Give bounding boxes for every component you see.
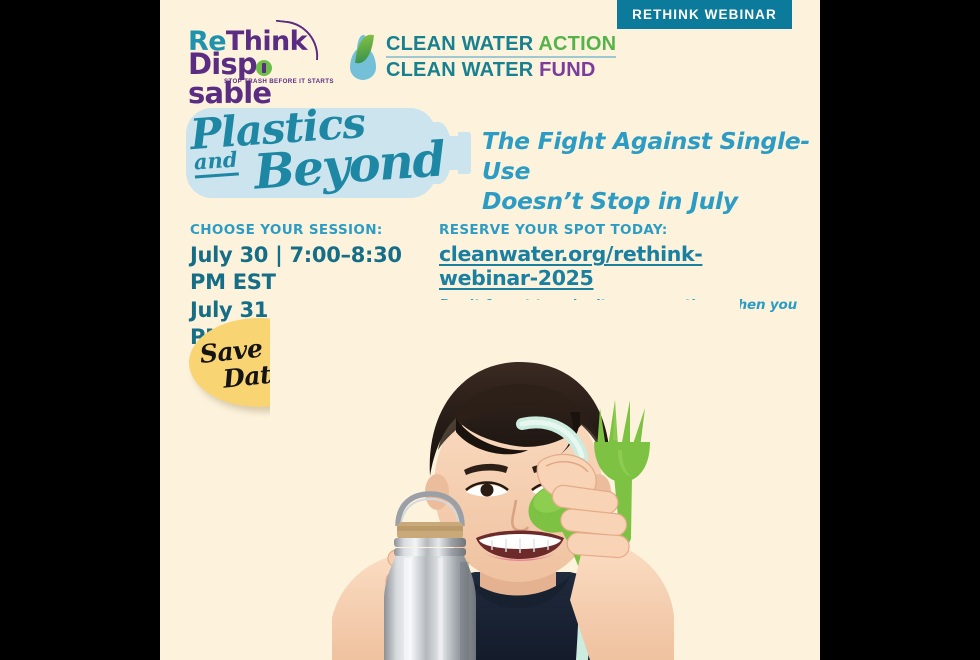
rethink-webinar-badge: RETHINK WEBINAR: [617, 0, 792, 29]
clean-water-logo: CLEAN WATER ACTION CLEAN WATER FUND: [348, 28, 616, 86]
session-option-1: July 30 | 7:00–8:30 PM EST: [190, 242, 440, 297]
trash-can-o-icon: [256, 60, 272, 76]
clean-water-text-2: CLEAN WATER: [386, 59, 539, 81]
headline-area: Plastics and Beyond The Fight Against Si…: [160, 108, 820, 208]
clean-water-wordmark: CLEAN WATER ACTION CLEAN WATER FUND: [386, 33, 616, 82]
logo-divider: [386, 56, 616, 58]
poster-canvas: RETHINK WEBINAR ReThink Dispsable STOP T…: [0, 0, 980, 660]
headline-subtitle: The Fight Against Single-Use Doesn’t Sto…: [482, 126, 812, 216]
rethink-logo-tagline: STOP TRASH BEFORE IT STARTS: [224, 78, 334, 85]
registration-link[interactable]: cleanwater.org/rethink-webinar-2025: [439, 242, 799, 290]
sessions-kicker: CHOOSE YOUR SESSION:: [190, 222, 440, 238]
clean-water-action-line: CLEAN WATER ACTION: [386, 33, 616, 55]
boy-with-reusables-photo: [270, 300, 740, 660]
water-drop-leaf-icon: [348, 34, 378, 80]
headline-and: and: [193, 147, 238, 179]
clean-water-fund-line: CLEAN WATER FUND: [386, 59, 616, 81]
action-text: ACTION: [538, 33, 616, 55]
reserve-kicker: RESERVE YOUR SPOT TODAY:: [439, 222, 799, 238]
poster-panel: RETHINK WEBINAR ReThink Dispsable STOP T…: [160, 0, 820, 660]
subtitle-line-2: Doesn’t Stop in July: [482, 186, 812, 216]
rethink-disposable-logo: ReThink Dispsable STOP TRASH BEFORE IT S…: [188, 28, 328, 86]
logo-row: ReThink Dispsable STOP TRASH BEFORE IT S…: [188, 26, 616, 86]
subtitle-line-1: The Fight Against Single-Use: [482, 126, 812, 186]
fund-text: FUND: [539, 59, 595, 81]
clean-water-text-1: CLEAN WATER: [386, 33, 538, 55]
